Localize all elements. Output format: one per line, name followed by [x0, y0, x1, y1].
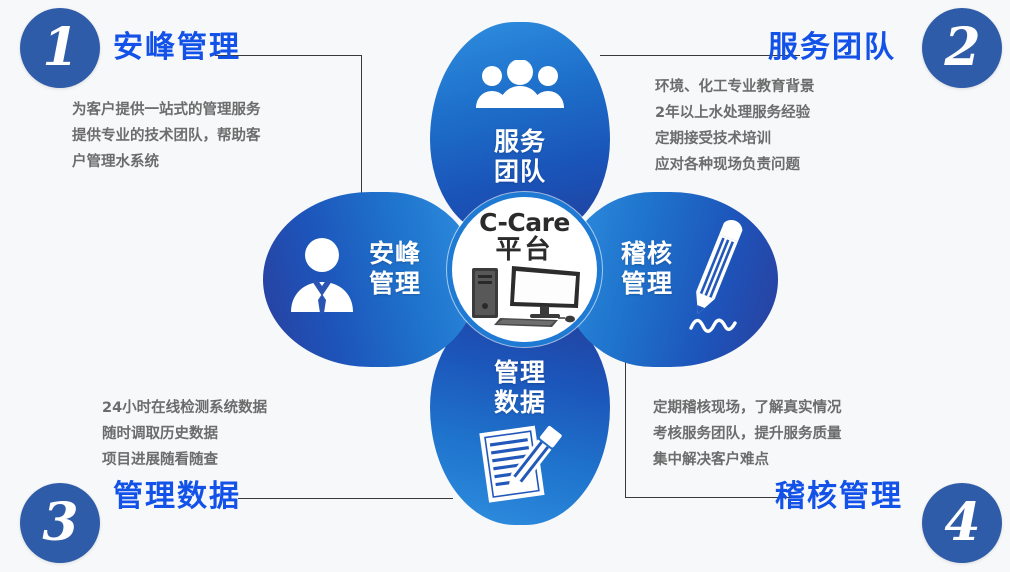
section-body-1-line: 户管理水系统 [72, 149, 261, 175]
center-hub[interactable]: C-Care 平台 [447, 192, 602, 347]
clipboard-pencil-icon [474, 420, 566, 512]
petal-audit-management-label-line2: 管理 [607, 269, 687, 299]
group-of-people-icon [472, 60, 568, 114]
petal-audit-management-label-line1: 稽核 [607, 239, 687, 269]
center-hub-title: C-Care [479, 209, 570, 236]
petal-service-team-label: 服务 团队 [430, 127, 610, 187]
petal-audit-management-label: 稽核 管理 [607, 239, 687, 299]
businessman-icon [285, 234, 359, 318]
number-badge-3: 3 [20, 483, 100, 563]
petal-diagram: 服务 团队 管理 数据 [255, 10, 795, 530]
number-badge-2-label: 2 [944, 22, 979, 74]
number-badge-2: 2 [922, 8, 1002, 88]
section-body-3-line: 项目进展随看随查 [102, 447, 267, 473]
infographic-canvas: 1 2 3 4 安峰管理 服务团队 管理数据 稽核管理 为客户提供一站式的管理服… [0, 0, 1010, 572]
section-body-3-line: 随时调取历史数据 [102, 421, 267, 447]
petal-anfeng-management-label-line2: 管理 [355, 269, 435, 299]
number-badge-4: 4 [922, 483, 1002, 563]
section-body-1-line: 提供专业的技术团队，帮助客 [72, 123, 261, 149]
section-body-1: 为客户提供一站式的管理服务 提供专业的技术团队，帮助客 户管理水系统 [72, 97, 261, 175]
petal-management-data-label-line2: 数据 [430, 388, 610, 418]
number-badge-4-label: 4 [944, 497, 979, 549]
number-badge-3-label: 3 [42, 497, 77, 549]
petal-management-data-label: 管理 数据 [430, 358, 610, 418]
desktop-computer-icon [466, 262, 584, 332]
section-heading-3: 管理数据 [113, 471, 241, 515]
petal-anfeng-management-label-line1: 安峰 [355, 239, 435, 269]
section-heading-1: 安峰管理 [113, 22, 241, 66]
petal-management-data-label-line1: 管理 [430, 358, 610, 388]
section-body-1-line: 为客户提供一站式的管理服务 [72, 97, 261, 123]
petal-service-team-label-line2: 团队 [430, 157, 610, 187]
number-badge-1: 1 [20, 8, 100, 88]
pencil-icon [683, 220, 757, 342]
petal-service-team-label-line1: 服务 [430, 127, 610, 157]
section-body-3: 24小时在线检测系统数据 随时调取历史数据 项目进展随看随查 [102, 395, 267, 473]
center-hub-subtitle: 平台 [495, 236, 553, 264]
number-badge-1-label: 1 [42, 22, 77, 74]
petal-anfeng-management[interactable]: 安峰 管理 [263, 192, 478, 367]
petal-anfeng-management-label: 安峰 管理 [355, 239, 435, 299]
section-body-3-line: 24小时在线检测系统数据 [102, 395, 267, 421]
